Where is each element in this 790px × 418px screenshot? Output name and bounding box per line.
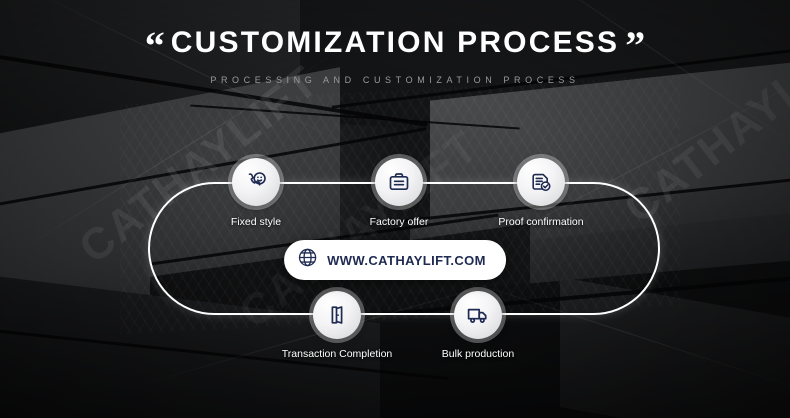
website-url-text: WWW.CATHAYLIFT.COM <box>327 253 486 268</box>
website-url-badge[interactable]: WWW.CATHAYLIFT.COM <box>284 240 506 280</box>
process-step-fixed-style[interactable]: Fixed style <box>196 158 316 228</box>
process-step-factory-offer[interactable]: Factory offer <box>339 158 459 228</box>
slide-canvas: CATHAYLIFT CATHAYLIFT CATHAYLIFT “ CUSTO… <box>0 0 790 418</box>
title-row: “ CUSTOMIZATION PROCESS ” <box>0 28 790 61</box>
step-icon-bubble <box>517 158 565 206</box>
page-subtitle: PROCESSING AND CUSTOMIZATION PROCESS <box>0 75 790 85</box>
step-label: Factory offer <box>339 216 459 228</box>
globe-icon <box>297 247 318 273</box>
step-label: Proof confirmation <box>481 216 601 228</box>
step-icon-bubble <box>232 158 280 206</box>
briefcase-icon <box>387 170 411 194</box>
step-label: Fixed style <box>196 216 316 228</box>
delivery-truck-icon <box>466 303 490 327</box>
phone-support-icon <box>244 170 268 194</box>
process-step-transaction-completion[interactable]: Transaction Completion <box>277 291 397 360</box>
header-block: “ CUSTOMIZATION PROCESS ” PROCESSING AND… <box>0 28 790 85</box>
page-title: CUSTOMIZATION PROCESS <box>171 28 619 58</box>
process-step-proof-confirmation[interactable]: Proof confirmation <box>481 158 601 228</box>
step-icon-bubble <box>375 158 423 206</box>
step-label: Transaction Completion <box>277 348 397 360</box>
quote-close-icon: ” <box>625 32 645 61</box>
step-label: Bulk production <box>418 348 538 360</box>
step-icon-bubble <box>313 291 361 339</box>
process-step-bulk-production[interactable]: Bulk production <box>418 291 538 360</box>
step-icon-bubble <box>454 291 502 339</box>
quote-open-icon: “ <box>145 32 165 61</box>
open-door-icon <box>325 303 349 327</box>
document-check-icon <box>529 170 553 194</box>
